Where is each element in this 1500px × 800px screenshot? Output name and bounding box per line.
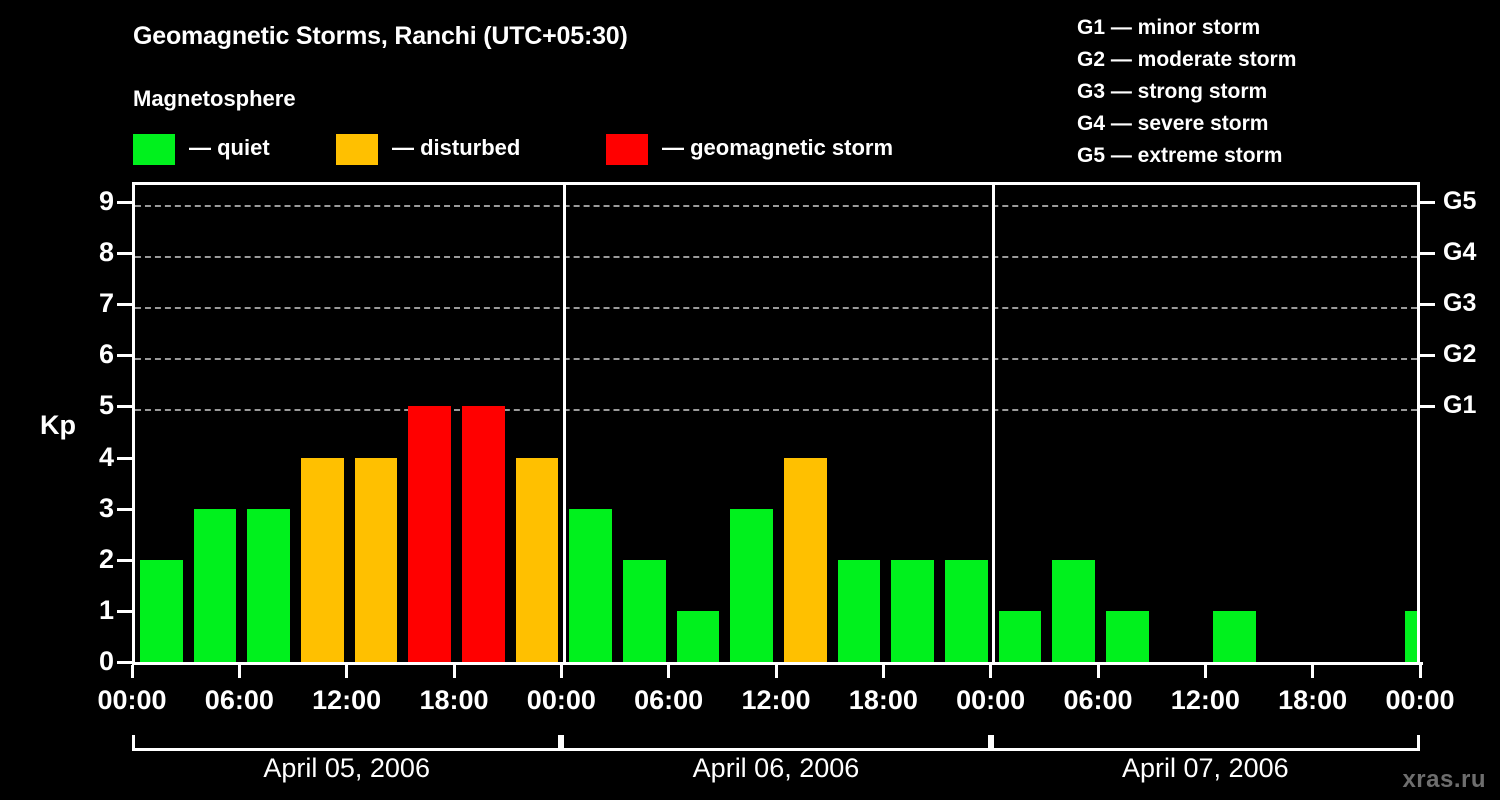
g-tick-mark	[1420, 201, 1435, 204]
bar	[1106, 611, 1149, 662]
x-tick-label: 00:00	[501, 687, 621, 714]
x-tick-mark	[775, 665, 778, 678]
gscale-line-g4: G4 — severe storm	[1077, 108, 1296, 140]
g-tick-label-g5: G5	[1443, 189, 1476, 214]
gridline-kp-7	[135, 307, 1417, 309]
y-tick-mark	[117, 303, 132, 306]
x-tick-mark	[1204, 665, 1207, 678]
gridline-kp-5	[135, 409, 1417, 411]
x-axis-baseline	[132, 662, 1423, 665]
gscale-legend: G1 — minor storm G2 — moderate storm G3 …	[1077, 12, 1296, 172]
bar	[408, 406, 451, 662]
x-tick-label: 00:00	[72, 687, 192, 714]
day-label: April 07, 2006	[991, 755, 1420, 782]
page-title: Geomagnetic Storms, Ranchi (UTC+05:30)	[133, 22, 628, 51]
bar	[301, 458, 344, 662]
y-tick-mark	[117, 610, 132, 613]
x-tick-label: 12:00	[1145, 687, 1265, 714]
bar	[1213, 611, 1256, 662]
bar	[999, 611, 1042, 662]
g-tick-mark	[1420, 354, 1435, 357]
legend-label-storm: — geomagnetic storm	[662, 137, 893, 159]
day-label: April 06, 2006	[561, 755, 990, 782]
x-tick-mark	[989, 665, 992, 678]
x-tick-mark	[1419, 665, 1422, 678]
y-tick-label-1: 1	[74, 597, 114, 624]
legend-swatch-quiet	[133, 134, 175, 165]
bar	[355, 458, 398, 662]
gscale-line-g2: G2 — moderate storm	[1077, 44, 1296, 76]
y-tick-mark	[117, 559, 132, 562]
gscale-line-g1: G1 — minor storm	[1077, 12, 1296, 44]
gridline-kp-6	[135, 358, 1417, 360]
bar	[247, 509, 290, 662]
x-tick-label: 00:00	[931, 687, 1051, 714]
bar	[838, 560, 881, 662]
day-bracket	[561, 735, 990, 751]
x-tick-mark	[560, 665, 563, 678]
g-tick-label-g4: G4	[1443, 240, 1476, 265]
bar	[516, 458, 559, 662]
x-tick-mark	[1097, 665, 1100, 678]
bar	[891, 560, 934, 662]
bar	[945, 560, 988, 662]
y-tick-label-6: 6	[74, 341, 114, 368]
bar	[623, 560, 666, 662]
x-tick-mark	[345, 665, 348, 678]
legend-swatch-storm	[606, 134, 648, 165]
g-tick-mark	[1420, 303, 1435, 306]
day-bracket	[132, 735, 561, 751]
x-tick-mark	[131, 665, 134, 678]
bar	[677, 611, 720, 662]
bar	[194, 509, 237, 662]
plot-area	[132, 182, 1420, 662]
g-tick-mark	[1420, 405, 1435, 408]
x-tick-mark	[1311, 665, 1314, 678]
bar	[784, 458, 827, 662]
watermark: xras.ru	[1402, 766, 1486, 794]
bar	[140, 560, 183, 662]
x-tick-label: 12:00	[716, 687, 836, 714]
x-tick-label: 00:00	[1360, 687, 1480, 714]
legend-swatch-disturbed	[336, 134, 378, 165]
day-label: April 05, 2006	[132, 755, 561, 782]
gscale-line-g3: G3 — strong storm	[1077, 76, 1296, 108]
g-tick-label-g3: G3	[1443, 291, 1476, 316]
y-axis-title: Kp	[40, 410, 76, 441]
bar	[462, 406, 505, 662]
g-tick-label-g2: G2	[1443, 342, 1476, 367]
bar	[730, 509, 773, 662]
legend-heading: Magnetosphere	[133, 86, 296, 112]
x-tick-label: 18:00	[823, 687, 943, 714]
legend-label-quiet: — quiet	[189, 137, 270, 159]
x-tick-mark	[667, 665, 670, 678]
x-tick-label: 18:00	[1253, 687, 1373, 714]
x-tick-mark	[238, 665, 241, 678]
y-tick-mark	[117, 661, 132, 664]
gscale-line-g5: G5 — extreme storm	[1077, 140, 1296, 172]
gridline-kp-8	[135, 256, 1417, 258]
x-tick-label: 06:00	[179, 687, 299, 714]
y-tick-label-2: 2	[74, 546, 114, 573]
plot-inner	[135, 185, 1417, 662]
day-bracket	[991, 735, 1420, 751]
y-tick-mark	[117, 252, 132, 255]
y-tick-label-5: 5	[74, 392, 114, 419]
x-tick-label: 06:00	[1038, 687, 1158, 714]
g-tick-label-g1: G1	[1443, 393, 1476, 418]
legend-item-quiet: — quiet	[133, 133, 270, 165]
legend-item-disturbed: — disturbed	[336, 133, 520, 165]
day-separator	[563, 185, 566, 662]
gridline-kp-9	[135, 205, 1417, 207]
bar	[569, 509, 612, 662]
y-tick-label-9: 9	[74, 188, 114, 215]
x-tick-mark	[453, 665, 456, 678]
y-tick-mark	[117, 201, 132, 204]
y-tick-label-8: 8	[74, 239, 114, 266]
y-tick-label-4: 4	[74, 444, 114, 471]
y-tick-mark	[117, 457, 132, 460]
g-tick-mark	[1420, 252, 1435, 255]
x-tick-label: 06:00	[609, 687, 729, 714]
bar	[1405, 611, 1417, 662]
bar	[1052, 560, 1095, 662]
y-tick-mark	[117, 405, 132, 408]
day-separator	[992, 185, 995, 662]
y-tick-label-7: 7	[74, 290, 114, 317]
chart-root: Geomagnetic Storms, Ranchi (UTC+05:30) M…	[0, 0, 1500, 800]
legend-label-disturbed: — disturbed	[392, 137, 520, 159]
y-tick-mark	[117, 354, 132, 357]
y-tick-mark	[117, 508, 132, 511]
y-tick-label-0: 0	[74, 648, 114, 675]
x-tick-label: 12:00	[287, 687, 407, 714]
y-tick-label-3: 3	[74, 495, 114, 522]
legend-item-storm: — geomagnetic storm	[606, 133, 893, 165]
x-tick-mark	[882, 665, 885, 678]
x-tick-label: 18:00	[394, 687, 514, 714]
